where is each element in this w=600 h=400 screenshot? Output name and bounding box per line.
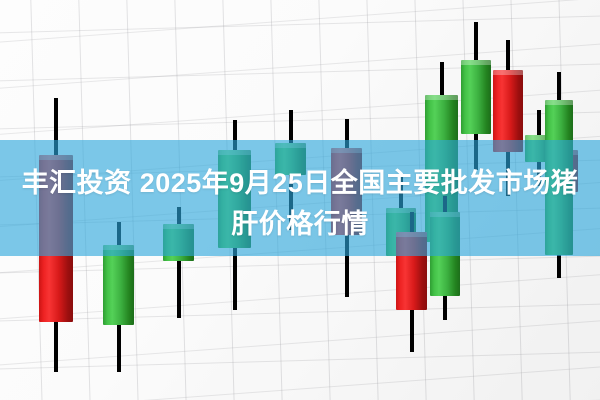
candle-body-up (461, 60, 491, 134)
page-title: 丰汇投资 2025年9月25日全国主要批发市场猪 肝价格行情 (0, 163, 600, 245)
candlestick-banner: 丰汇投资 2025年9月25日全国主要批发市场猪 肝价格行情 (0, 0, 600, 400)
candle-body-up (103, 245, 134, 325)
